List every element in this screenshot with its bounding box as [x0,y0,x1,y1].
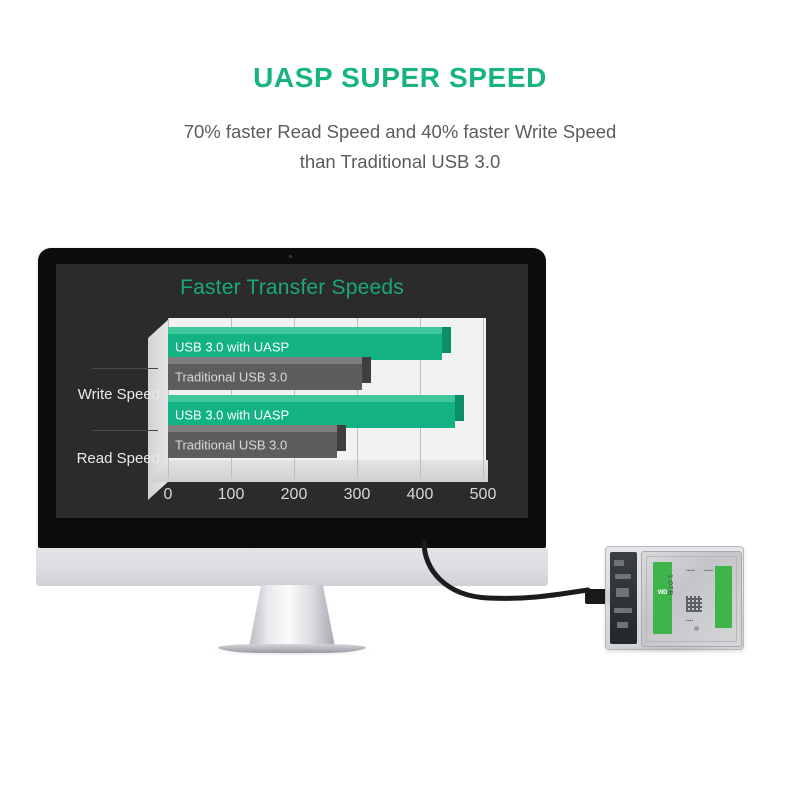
category-divider [92,368,158,369]
bar-read-traditional: Traditional USB 3.0 [168,432,337,458]
hard-drive-capacity-label: 1.0TB [666,574,675,596]
enclosure-circuit-board [610,552,637,644]
monitor-bezel: Faster Transfer Speeds USB 3.0 with UAS [38,248,546,548]
monitor-stand-neck [249,585,335,647]
hard-drive-spec-text: ▪▪▪▪▪ [704,568,713,574]
xtick-label: 100 [218,486,245,504]
all-in-one-computer: Faster Transfer Speeds USB 3.0 with UAS [38,248,546,548]
pcb-chip [616,588,629,597]
stand-shadow [208,649,376,656]
usb-cable [400,540,600,630]
webcam-icon [289,255,292,258]
xtick-label: 400 [407,486,434,504]
gridline [483,318,484,478]
subtitle-line-1: 70% faster Read Speed and 40% faster Wri… [184,121,617,142]
bar-side-face [362,357,371,383]
page-subtitle: 70% faster Read Speed and 40% faster Wri… [0,117,800,177]
monitor-screen: Faster Transfer Speeds USB 3.0 with UAS [56,264,528,518]
xtick-label: 200 [281,486,308,504]
cable-path [424,542,588,598]
bar-write-traditional: Traditional USB 3.0 [168,364,362,390]
bar-top-face [168,327,442,334]
bar-top-face [168,425,337,432]
pcb-chip [614,560,624,566]
bar-label: Traditional USB 3.0 [175,370,287,385]
pcb-chip [614,608,632,613]
subtitle-line-2: than Traditional USB 3.0 [0,147,800,177]
xtick-label: 0 [164,486,173,504]
bar-side-face [442,327,451,353]
category-label-read-speed: Read Speed [74,450,160,467]
chart-title: Faster Transfer Speeds [56,276,528,300]
spindle-hub [694,626,699,631]
bar-label: Traditional USB 3.0 [175,438,287,453]
bar-top-face [168,357,362,364]
hard-drive-enclosure: WD 1.0TB ▪▪▪▪▪ ▪▪▪▪▪ ▪▪▪▪ [605,546,744,650]
bar-side-face [337,425,346,451]
hard-drive-label-band-right [715,566,732,628]
bar-label: USB 3.0 with UASP [175,340,289,355]
barcode-icon [686,596,702,612]
bar-label: USB 3.0 with UASP [175,408,289,423]
hard-drive: WD 1.0TB ▪▪▪▪▪ ▪▪▪▪▪ ▪▪▪▪ [641,551,742,647]
pcb-chip [615,574,631,579]
hard-drive-spec-text: ▪▪▪▪ [686,618,693,624]
pcb-chip [617,622,628,628]
xtick-label: 300 [344,486,371,504]
xtick-label: 500 [470,486,497,504]
hard-drive-label-band [653,562,672,634]
bar-chart: USB 3.0 with UASP Traditional USB 3.0 US… [168,318,486,480]
category-label-write-speed: Write Speed [74,386,160,403]
page-title: UASP SUPER SPEED [0,62,800,94]
chart-floor [148,460,488,482]
bar-side-face [455,395,464,421]
hard-drive-spec-text: ▪▪▪▪▪ [686,568,695,574]
enclosure-shadow [608,645,740,653]
bar-top-face [168,395,455,402]
category-divider [92,430,158,431]
